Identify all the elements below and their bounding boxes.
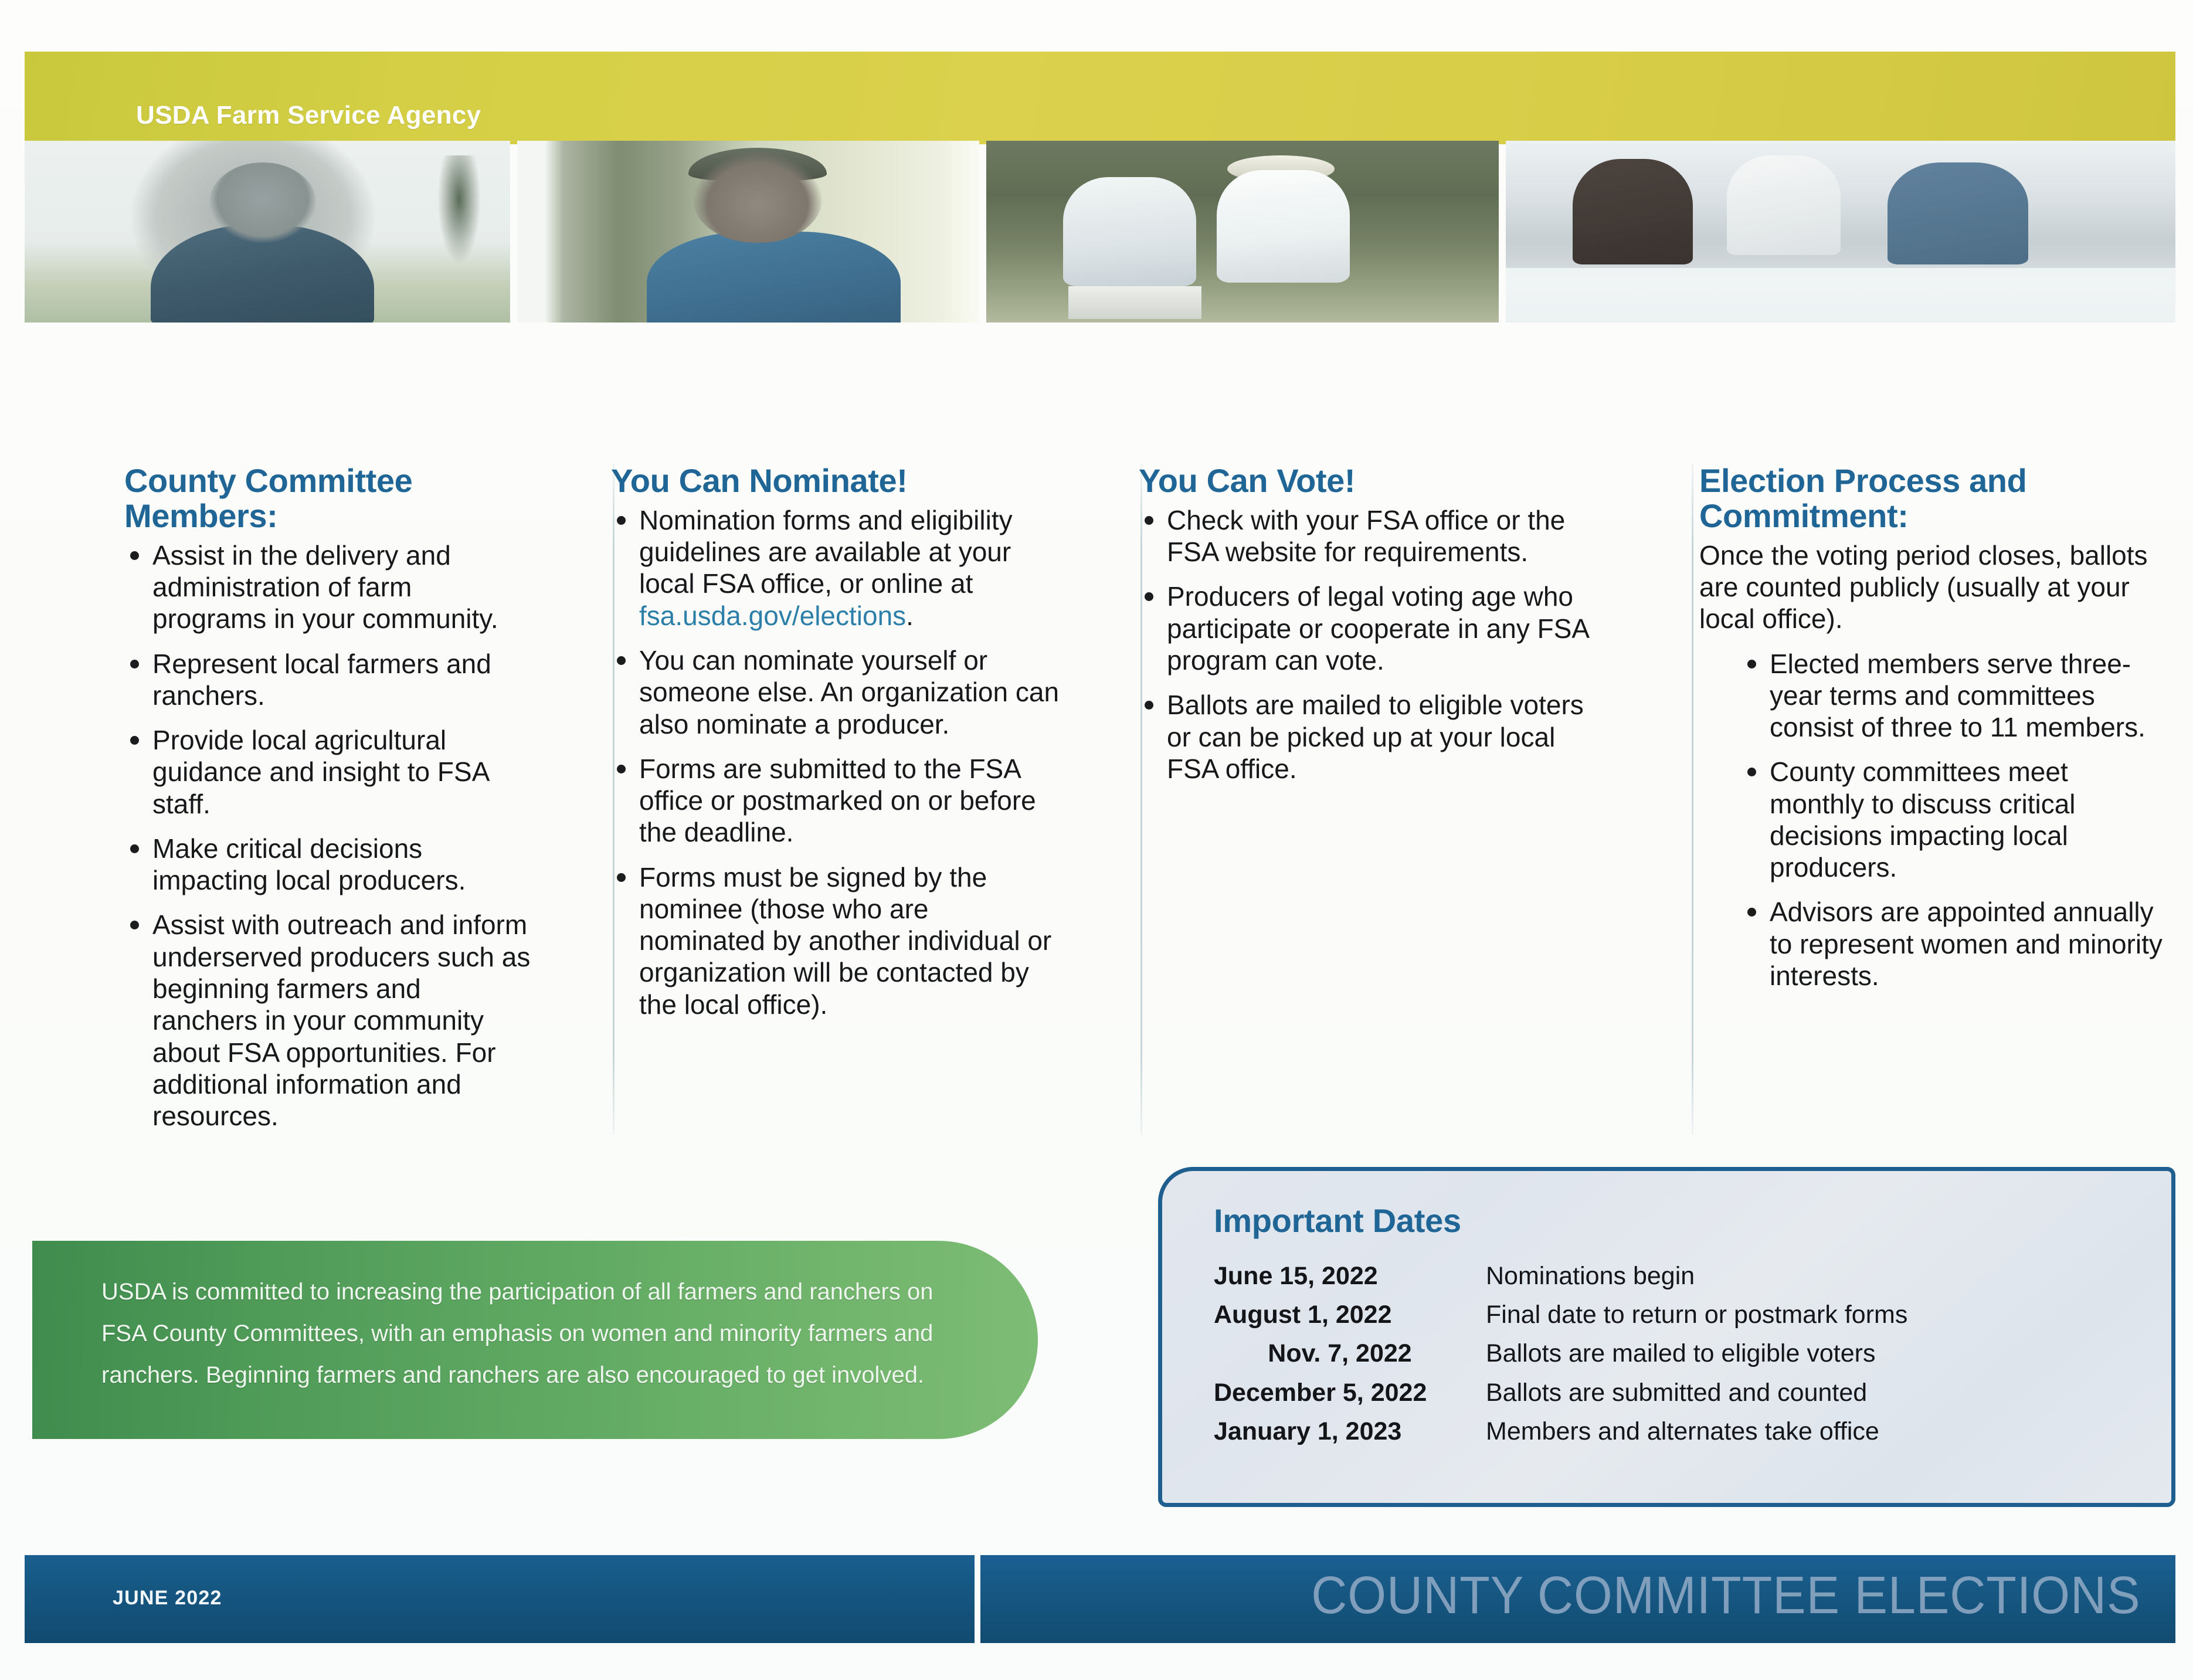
list-item: Ballots are mailed to eligible voters or… — [1139, 689, 1611, 785]
fsa-elections-link[interactable]: fsa.usda.gov/elections — [639, 600, 906, 631]
column-county-committee-members: County Committee Members: Assist in the … — [25, 463, 552, 1145]
table-row: August 1, 2022 Final date to return or p… — [1214, 1295, 2128, 1334]
column-you-can-nominate: You Can Nominate! Nomination forms and e… — [552, 463, 1080, 1145]
table-row: June 15, 2022 Nominations begin — [1214, 1257, 2128, 1295]
list-item: Assist with outreach and inform underser… — [124, 909, 532, 1132]
list-item: Elected members serve three-year terms a… — [1741, 648, 2164, 744]
list-item: Forms are submitted to the FSA office or… — [611, 753, 1060, 849]
footer-issue-bar: JUNE 2022 — [25, 1555, 975, 1643]
footer-issue-date: JUNE 2022 — [113, 1587, 222, 1610]
table-row: Nov. 7, 2022 Ballots are mailed to eligi… — [1214, 1334, 2128, 1373]
bullet-list: Elected members serve three-year terms a… — [1699, 648, 2164, 992]
list-item: Forms must be signed by the nominee (tho… — [611, 861, 1060, 1020]
list-item: Check with your FSA office or the FSA we… — [1139, 504, 1611, 568]
commitment-text: USDA is committed to increasing the part… — [101, 1271, 934, 1397]
column-heading: County Committee Members: — [124, 463, 532, 534]
photo-farmer-cap-blue-shirt — [517, 141, 979, 323]
column-election-process: Election Process and Commitment: Once th… — [1631, 463, 2175, 1145]
important-dates-table: June 15, 2022 Nominations begin August 1… — [1214, 1257, 2128, 1451]
list-item: Producers of legal voting age who partic… — [1139, 581, 1611, 676]
list-item: County committees meet monthly to discus… — [1741, 756, 2164, 883]
date-cell: June 15, 2022 — [1214, 1257, 1466, 1295]
hero-photo-strip — [25, 141, 2175, 323]
table-row: December 5, 2022 Ballots are submitted a… — [1214, 1373, 2128, 1412]
agency-name-label: USDA Farm Service Agency — [136, 101, 481, 130]
bullet-list: Nomination forms and eligibility guideli… — [611, 504, 1060, 1020]
photo-two-gardeners — [986, 141, 1498, 323]
list-item: Represent local farmers and ranchers. — [124, 648, 532, 712]
important-dates-panel: Important Dates June 15, 2022 Nomination… — [1158, 1167, 2175, 1507]
bullet-text-after: . — [906, 600, 914, 631]
important-dates-title: Important Dates — [1214, 1202, 1461, 1240]
list-item: You can nominate yourself or someone els… — [611, 644, 1060, 740]
list-item: Provide local agricultural guidance and … — [124, 724, 532, 820]
event-cell: Ballots are mailed to eligible voters — [1466, 1334, 2128, 1373]
event-cell: Nominations begin — [1466, 1257, 2128, 1295]
date-cell: August 1, 2022 — [1214, 1295, 1466, 1334]
column-heading: Election Process and Commitment: — [1699, 463, 2164, 534]
date-cell: January 1, 2023 — [1214, 1412, 1466, 1451]
bullet-list: Assist in the delivery and administratio… — [124, 539, 532, 1132]
usda-commitment-panel: USDA is committed to increasing the part… — [32, 1241, 1038, 1439]
event-cell: Members and alternates take office — [1466, 1412, 2128, 1451]
column-heading: You Can Vote! — [1139, 463, 1611, 498]
footer-title: COUNTY COMMITTEE ELECTIONS — [1311, 1566, 2140, 1626]
info-columns: County Committee Members: Assist in the … — [25, 463, 2175, 1145]
date-cell: Nov. 7, 2022 — [1214, 1334, 1466, 1373]
bullet-text-before: Nomination forms and eligibility guideli… — [639, 505, 1013, 599]
column-lead-paragraph: Once the voting period closes, ballots a… — [1699, 539, 2164, 635]
list-item-with-link: Nomination forms and eligibility guideli… — [611, 504, 1060, 632]
agency-banner: USDA Farm Service Agency — [25, 52, 2175, 144]
date-cell: December 5, 2022 — [1214, 1373, 1466, 1412]
list-item: Make critical decisions impacting local … — [124, 833, 532, 897]
event-cell: Final date to return or postmark forms — [1466, 1295, 2128, 1334]
table-row: January 1, 2023 Members and alternates t… — [1214, 1412, 2128, 1451]
footer-title-bar: COUNTY COMMITTEE ELECTIONS — [980, 1555, 2175, 1643]
event-cell: Ballots are submitted and counted — [1466, 1373, 2128, 1412]
list-item: Assist in the delivery and administratio… — [124, 539, 532, 635]
bullet-list: Check with your FSA office or the FSA we… — [1139, 504, 1611, 785]
photo-farmer-blue-tank — [25, 141, 510, 323]
column-you-can-vote: You Can Vote! Check with your FSA office… — [1080, 463, 1631, 1145]
column-heading: You Can Nominate! — [611, 463, 1060, 498]
photo-group-meeting — [1506, 141, 2175, 323]
list-item: Advisors are appointed annually to repre… — [1741, 896, 2164, 992]
